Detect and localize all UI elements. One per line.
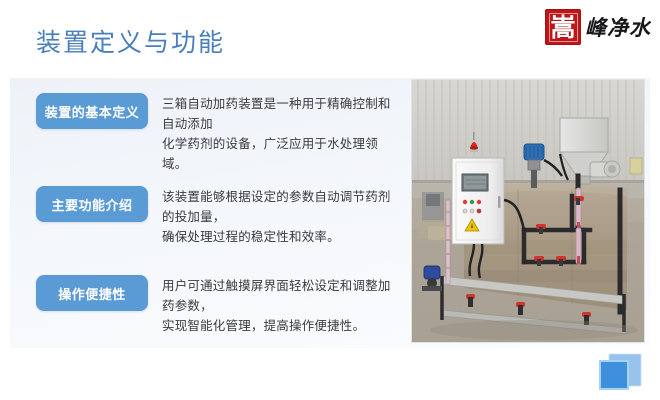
row-label-badge: 装置的基本定义 bbox=[36, 93, 148, 129]
logo-wordmark: 峰净水 bbox=[585, 17, 651, 38]
row-description-line: 三箱自动加药装置是一种用于精确控制和自动添加 bbox=[162, 94, 400, 134]
content-row: 主要功能介绍 该装置能够根据设定的参数自动调节药剂的投加量， 确保处理过程的稳定… bbox=[36, 186, 411, 236]
row-description-line: 用户可通过触摸屏界面轻松设定和调整加药参数， bbox=[162, 276, 400, 316]
page-title: 装置定义与功能 bbox=[36, 31, 225, 56]
content-row: 装置的基本定义 三箱自动加药装置是一种用于精确控制和自动添加 化学药剂的设备，广… bbox=[36, 93, 411, 143]
row-description-line: 实现智能化管理，提高操作便捷性。 bbox=[162, 316, 400, 336]
product-photo-image bbox=[412, 80, 644, 342]
logo-seal-character: 嵩 bbox=[550, 15, 575, 40]
row-description-line: 该装置能够根据设定的参数自动调节药剂的投加量， bbox=[162, 187, 400, 227]
row-description: 该装置能够根据设定的参数自动调节药剂的投加量， 确保处理过程的稳定性和效率。 bbox=[162, 186, 400, 247]
row-label-badge: 操作便捷性 bbox=[36, 275, 148, 311]
row-description: 三箱自动加药装置是一种用于精确控制和自动添加 化学药剂的设备，广泛应用于水处理领… bbox=[162, 93, 400, 174]
row-description-line: 化学药剂的设备，广泛应用于水处理领域。 bbox=[162, 134, 400, 174]
logo-seal-icon: 嵩 bbox=[545, 9, 581, 45]
decorative-square-front bbox=[599, 360, 629, 390]
product-photo bbox=[411, 79, 645, 343]
decorative-squares bbox=[597, 352, 645, 394]
company-logo: 嵩 峰净水 bbox=[545, 7, 653, 47]
row-description-line: 确保处理过程的稳定性和效率。 bbox=[162, 227, 400, 247]
row-description: 用户可通过触摸屏界面轻松设定和调整加药参数， 实现智能化管理，提高操作便捷性。 bbox=[162, 275, 400, 336]
slide-root: 嵩 峰净水 装置定义与功能 装置的基本定义 三箱自动加药装置是一种用于精确控制和… bbox=[0, 0, 660, 400]
content-row: 操作便捷性 用户可通过触摸屏界面轻松设定和调整加药参数， 实现智能化管理，提高操… bbox=[36, 275, 411, 325]
row-label-badge: 主要功能介绍 bbox=[36, 186, 148, 222]
